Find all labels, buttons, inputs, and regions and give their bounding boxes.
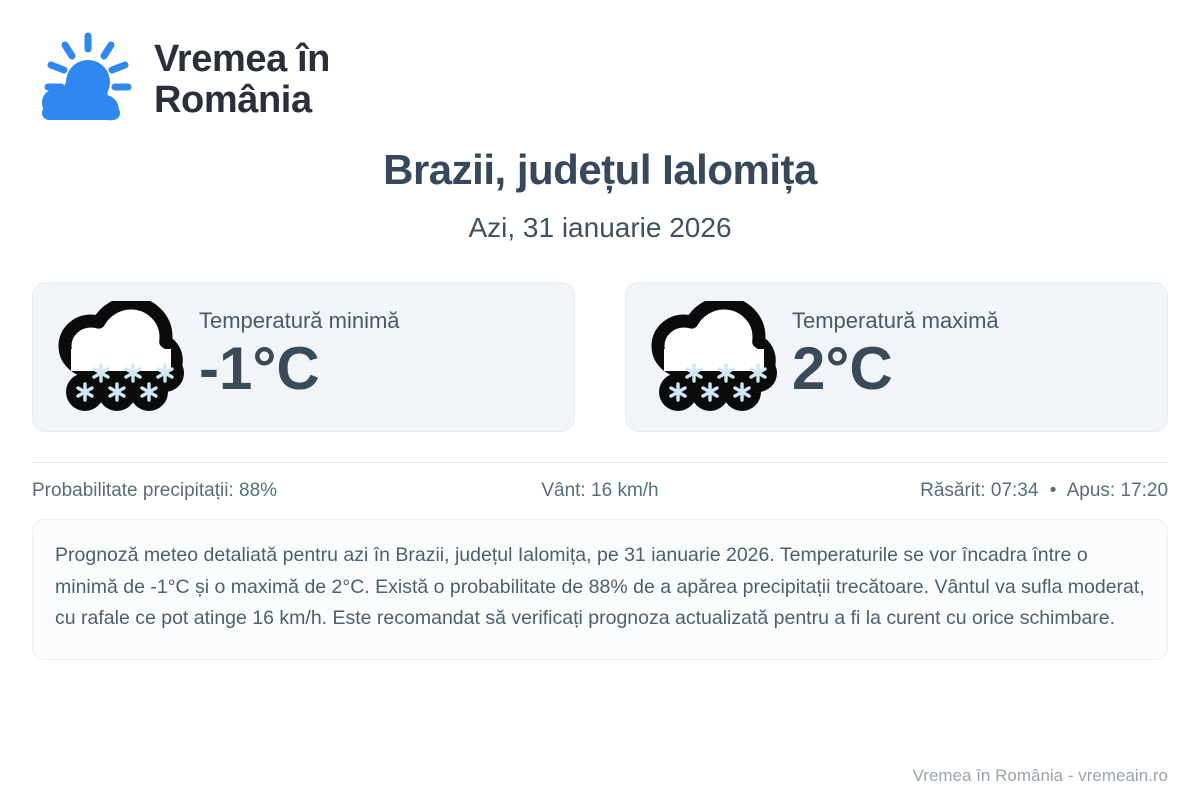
precipitation-label: Probabilitate precipitații: (32, 480, 234, 501)
max-temperature-body: Temperatură maximă 2°C (792, 309, 999, 406)
precipitation-value: 88% (239, 480, 277, 501)
sun-behind-cloud-icon (32, 32, 136, 128)
min-temperature-body: Temperatură minimă -1°C (199, 309, 400, 406)
max-temperature-label: Temperatură maximă (792, 309, 999, 333)
bullet-separator-icon: • (1044, 480, 1063, 501)
max-temperature-card: Temperatură maximă 2°C (625, 282, 1168, 432)
min-temperature-value: -1°C (199, 337, 400, 402)
site-title: Vremea în România (154, 39, 330, 121)
wind-label: Vânt: (541, 480, 585, 501)
page-title: Brazii, județul Ialomița (32, 146, 1168, 194)
snow-cloud-icon (55, 301, 187, 413)
max-temperature-value: 2°C (792, 337, 999, 402)
forecast-description: Prognoză meteo detaliată pentru azi în B… (32, 519, 1168, 660)
temperature-cards: Temperatură minimă -1°C (32, 282, 1168, 432)
weather-page: Vremea în România Brazii, județul Ialomi… (0, 0, 1200, 800)
precipitation-stat: Probabilitate precipitații: 88% (32, 480, 411, 502)
min-temperature-card: Temperatură minimă -1°C (32, 282, 575, 432)
snow-cloud-icon (648, 301, 780, 413)
sunrise-value: 07:34 (991, 480, 1039, 501)
min-temperature-label: Temperatură minimă (199, 309, 400, 333)
sun-times-stat: Răsărit: 07:34 • Apus: 17:20 (789, 480, 1168, 502)
wind-value: 16 km/h (591, 480, 659, 501)
sunset-label: Apus: (1067, 480, 1116, 501)
sunset-value: 17:20 (1120, 480, 1168, 501)
wind-stat: Vânt: 16 km/h (411, 480, 790, 502)
page-subtitle: Azi, 31 ianuarie 2026 (32, 212, 1168, 244)
sunrise-label: Răsărit: (920, 480, 985, 501)
weather-stats: Probabilitate precipitații: 88% Vânt: 16… (32, 463, 1168, 519)
site-header: Vremea în România (32, 0, 1168, 110)
footer-credit: Vremea în România - vremeain.ro (913, 766, 1168, 786)
